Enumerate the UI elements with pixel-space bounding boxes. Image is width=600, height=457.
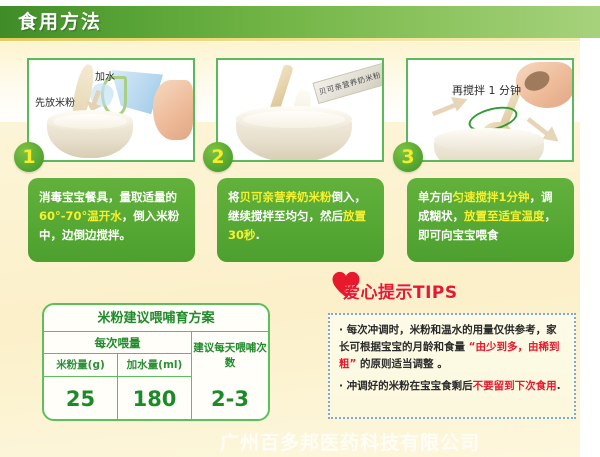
step-2-text-p1: 贝可亲营养奶米粉	[240, 190, 332, 204]
company-watermark: 广州百多邦医药科技有限公司	[220, 428, 480, 455]
feeding-table-subheader-0: 米粉量(g)	[44, 354, 118, 376]
tips-line-1-p1: 不要留到下次食用	[473, 380, 557, 392]
step-3-text-p0: 单方向	[418, 190, 453, 204]
step-3-badge: 3	[393, 142, 423, 172]
step-3-description: 单方向匀速搅拌1分钟，调成糊状，放置至适宜温度，即可向宝宝喂食	[407, 178, 574, 262]
feeding-table-right-value: 2-3	[192, 377, 268, 421]
step-1-label-0: 先放米粉	[35, 94, 75, 109]
feeding-table-value-1: 180	[118, 377, 191, 421]
feeding-table-right-group: 建议每天喂哺次数 2-3	[192, 332, 268, 421]
step-2-text-p4: .	[256, 228, 260, 242]
step-2-text-p0: 将	[228, 190, 240, 204]
bowl-milk	[53, 114, 127, 129]
tips-title: 爱心提示TIPS	[343, 278, 458, 303]
step-1-text-p0: 消毒宝宝餐具，量取适量的	[39, 190, 177, 204]
page-title: 食用方法	[18, 10, 102, 34]
bowl-milk	[243, 111, 345, 128]
tips-line-1: · 冲调好的米粉在宝宝食剩后不要留到下次食用.	[339, 378, 565, 395]
step-1-photo: 先放米粉 加水	[27, 58, 195, 162]
step-1-badge: 1	[14, 142, 44, 172]
tips-line-0-p2: 的原则适当调整 。	[356, 358, 447, 370]
feeding-table-value-0: 25	[44, 377, 118, 421]
feeding-table-group-header: 每次喂量	[44, 332, 191, 354]
tips-line-1-p2: .	[557, 380, 561, 392]
feeding-table-left-group: 每次喂量 米粉量(g) 加水量(ml) 25 180	[44, 332, 192, 421]
step-1-label-1: 加水	[95, 68, 115, 83]
feeding-table-title: 米粉建议喂哺育方案	[44, 305, 268, 332]
tips-line-0: · 每次冲调时，米粉和温水的用量仅供参考，家长可根据宝宝的月龄和食量 “由少到多…	[339, 322, 565, 373]
step-3-photo: 再搅拌 1 分钟	[406, 58, 574, 162]
step-2-photo: 贝可亲营养奶米粉	[216, 58, 384, 162]
step-1-text-p1: 60°-70°温开水	[39, 209, 122, 223]
feeding-table-subheader-1: 加水量(ml)	[118, 354, 191, 376]
step-2-badge: 2	[203, 142, 233, 172]
tips-line-1-p0: · 冲调好的米粉在宝宝食剩后	[339, 380, 473, 392]
tips-box: · 每次冲调时，米粉和温水的用量仅供参考，家长可根据宝宝的月龄和食量 “由少到多…	[328, 313, 576, 419]
step-2-description: 将贝可亲营养奶米粉倒入，继续搅拌至均匀，然后放置30秒.	[217, 178, 384, 262]
header-underline	[0, 38, 580, 41]
step-3-text-p1: 匀速搅拌1分钟	[453, 190, 530, 204]
bowl-rim	[434, 128, 544, 152]
page-root: 食用方法 先放米粉 加水	[0, 0, 600, 457]
hand-shape	[153, 80, 193, 140]
step-3-label-0: 再搅拌 1 分钟	[452, 82, 521, 98]
step-3-text-p3: 放置至适宜温度	[464, 209, 545, 223]
feeding-table-right-header: 建议每天喂哺次数	[192, 332, 268, 377]
feeding-table: 米粉建议喂哺育方案 每次喂量 米粉量(g) 加水量(ml) 25 180 建议每…	[42, 303, 270, 421]
step-1-description: 消毒宝宝餐具，量取适量的60°-70°温开水，倒入米粉中，边倒边搅拌。	[28, 178, 195, 262]
